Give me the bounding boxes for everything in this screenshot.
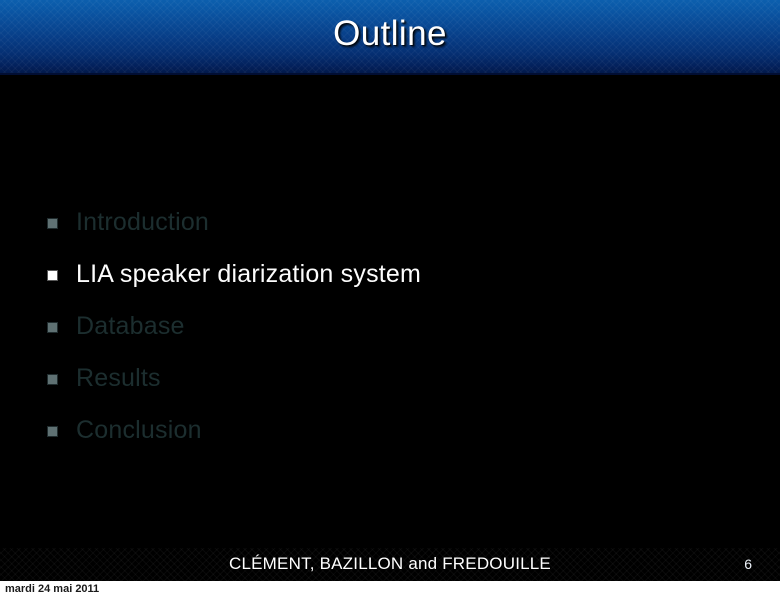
slide-footer-band: CLÉMENT, BAZILLON and FREDOUILLE 6 [0, 548, 780, 581]
square-bullet-icon [48, 271, 57, 280]
presentation-date: mardi 24 mai 2011 [5, 583, 99, 595]
list-item-label: Introduction [76, 210, 209, 235]
list-item-label: Results [76, 366, 161, 391]
list-item-label: LIA speaker diarization system [76, 262, 421, 287]
list-item[interactable]: LIA speaker diarization system [48, 248, 748, 300]
footer-authors-label: CLÉMENT, BAZILLON and FREDOUILLE [0, 554, 780, 574]
square-bullet-icon [48, 427, 57, 436]
page-title: Outline [0, 14, 780, 54]
presentation-slide: Outline Introduction LIA speaker diariza… [0, 0, 780, 581]
list-item-label: Conclusion [76, 418, 202, 443]
list-item-label: Database [76, 314, 185, 339]
slide-header-band: Outline [0, 0, 780, 75]
presenter-info-strip: mardi 24 mai 2011 [0, 581, 780, 600]
list-item[interactable]: Introduction [48, 196, 748, 248]
list-item[interactable]: Conclusion [48, 404, 748, 456]
list-item[interactable]: Results [48, 352, 748, 404]
square-bullet-icon [48, 219, 57, 228]
square-bullet-icon [48, 375, 57, 384]
list-item[interactable]: Database [48, 300, 748, 352]
page-number: 6 [744, 556, 752, 572]
square-bullet-icon [48, 323, 57, 332]
outline-bullet-list: Introduction LIA speaker diarization sys… [48, 196, 748, 456]
header-bottom-edge [0, 73, 780, 75]
